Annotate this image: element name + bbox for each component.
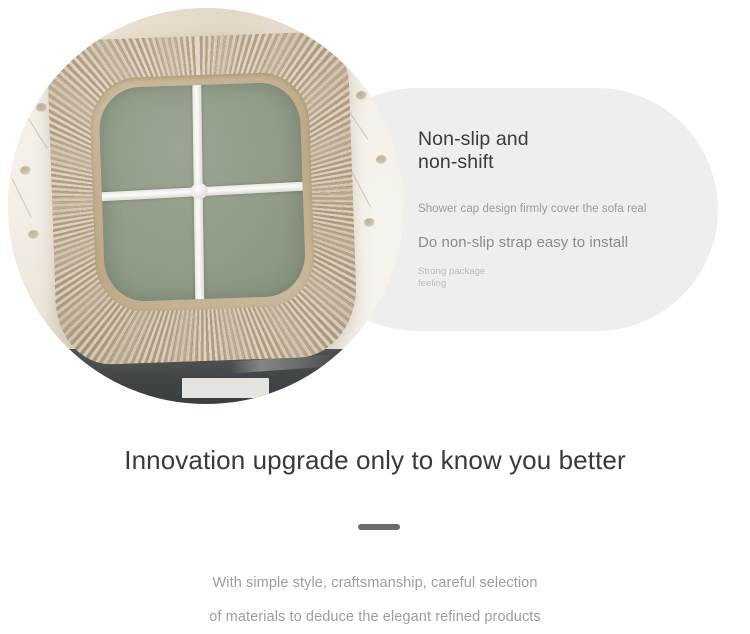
product-label-card xyxy=(182,378,269,398)
divider-dash xyxy=(358,524,400,530)
feature-line-2: Do non-slip strap easy to install xyxy=(418,233,708,252)
promo-page: Non-slip and non-shift Shower cap design… xyxy=(0,0,750,634)
sage-cushion-panel xyxy=(97,81,306,302)
stretch-cover xyxy=(46,31,358,366)
sofa-tuft-dot xyxy=(364,218,375,227)
product-photo[interactable] xyxy=(8,8,404,404)
feature-panel-text: Non-slip and non-shift Shower cap design… xyxy=(418,128,708,289)
footer-paragraph: With simple style, craftsmanship, carefu… xyxy=(0,566,750,634)
feature-line-1: Shower cap design firmly cover the sofa … xyxy=(418,202,708,217)
strap-knot xyxy=(190,183,207,200)
sofa-tuft-dot xyxy=(356,91,367,100)
footer-paragraph-line-1: With simple style, craftsmanship, carefu… xyxy=(0,566,750,600)
sofa-tuft-dot xyxy=(20,166,31,175)
sofa-seam-line xyxy=(23,111,47,149)
product-photo-scene xyxy=(8,8,404,404)
footer-paragraph-line-2: of materials to deduce the elegant refin… xyxy=(0,600,750,634)
sofa-tuft-dot xyxy=(28,230,39,239)
feature-line-3: Strong package feeling xyxy=(418,266,708,289)
sofa-tuft-dot xyxy=(376,155,387,164)
sofa-seam-line xyxy=(12,179,32,219)
sofa-tuft-dot xyxy=(36,103,47,112)
footer-headline: Innovation upgrade only to know you bett… xyxy=(0,444,750,476)
feature-heading: Non-slip and non-shift xyxy=(418,128,708,174)
